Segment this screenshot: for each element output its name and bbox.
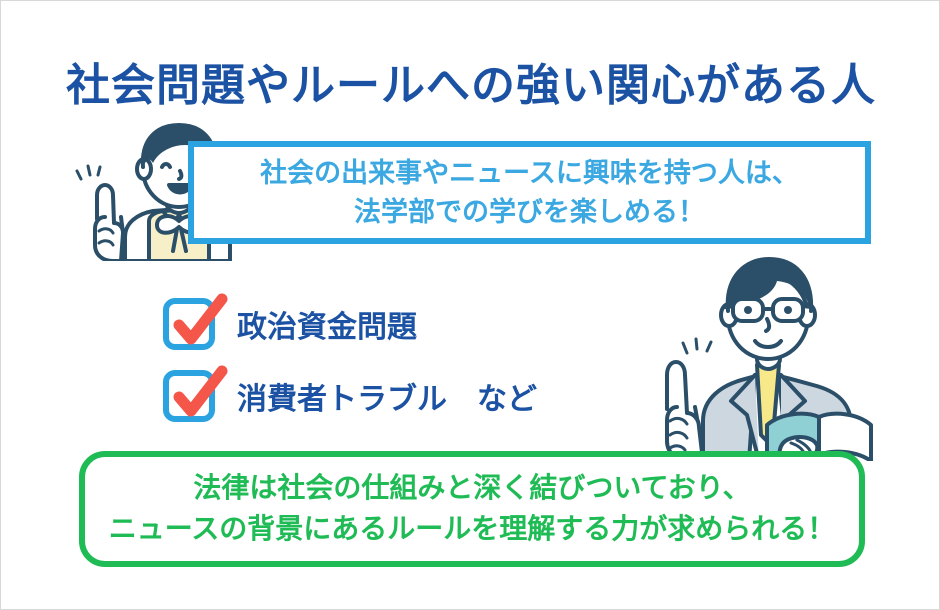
checklist-item-label: 政治資金問題 — [237, 302, 417, 346]
checklist: 政治資金問題 消費者トラブル など — [163, 291, 537, 435]
conclusion-box-green: 法律は社会の仕組みと深く結びついており、 ニュースの背景にあるルールを理解する力… — [79, 451, 865, 567]
conclusion-box-text: 法律は社会の仕組みと深く結びついており、 ニュースの背景にあるルールを理解する力… — [85, 457, 859, 561]
check-mark-icon — [160, 363, 230, 429]
checklist-item-1[interactable]: 消費者トラブル など — [163, 363, 537, 429]
callout-box-text: 社会の出来事やニュースに興味を持つ人は、 法学部での学びを楽しめる！ — [194, 147, 865, 238]
page-title: 社会問題やルールへの強い関心がある人 — [1, 49, 940, 113]
check-mark-icon — [160, 291, 230, 357]
checklist-item-label: 消費者トラブル など — [237, 374, 537, 418]
checkbox-icon[interactable] — [163, 298, 215, 350]
slide-canvas: 社会問題やルールへの強い関心がある人 — [0, 0, 940, 610]
callout-line-1: 社会の出来事やニュースに興味を持つ人は、 — [260, 154, 799, 192]
man-with-glasses-holding-book-illustration — [663, 249, 913, 461]
callout-box-blue: 社会の出来事やニュースに興味を持つ人は、 法学部での学びを楽しめる！ — [188, 141, 871, 244]
conclusion-line-1: 法律は社会の仕組みと深く結びついており、 — [193, 468, 750, 509]
checklist-item-0[interactable]: 政治資金問題 — [163, 291, 537, 357]
checkbox-icon[interactable] — [163, 370, 215, 422]
callout-line-2: 法学部での学びを楽しめる！ — [354, 193, 705, 231]
conclusion-line-2: ニュースの背景にあるルールを理解する力が求められる！ — [109, 509, 836, 550]
